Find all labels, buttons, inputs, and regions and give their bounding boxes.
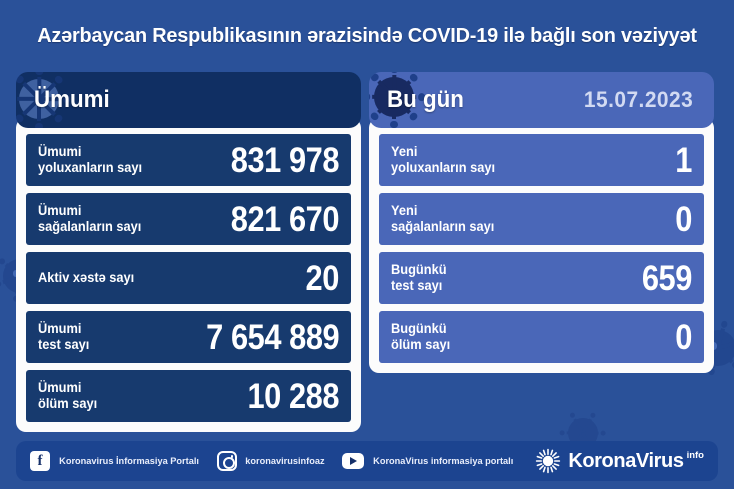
stat-label: Aktiv xəstə sayı xyxy=(38,270,134,286)
instagram-icon xyxy=(217,451,237,471)
stats-columns: Ümumi Ümumi yoluxanların sayı 831 978 Üm… xyxy=(0,72,734,432)
brand-logo[interactable]: KoronaVirus info xyxy=(535,448,704,474)
virus-sun-icon xyxy=(535,448,561,474)
stat-value: 831 978 xyxy=(231,143,339,178)
panel-total-title: Ümumi xyxy=(34,86,110,114)
social-label: koronavirusinfoaz xyxy=(245,456,324,467)
social-label: KoronaVirus informasiya portalı xyxy=(373,456,513,467)
page-title: Azərbaycan Respublikasının ərazisində CO… xyxy=(37,24,697,48)
facebook-icon: f xyxy=(30,451,50,471)
stat-value: 20 xyxy=(306,261,339,296)
stat-row: Ümumi yoluxanların sayı 831 978 xyxy=(26,134,351,186)
panel-today-card: Yeni yoluxanların sayı 1 Yeni sağalanlar… xyxy=(369,118,714,373)
panel-today: Bu gün 15.07.2023 Yeni yoluxanların sayı… xyxy=(369,72,714,432)
social-link-youtube[interactable]: KoronaVirus informasiya portalı xyxy=(342,453,515,469)
footer-bar: f Koronavirus İnformasiya Portalı korona… xyxy=(16,441,718,481)
stat-value: 0 xyxy=(675,320,692,355)
stat-value: 10 288 xyxy=(247,379,339,414)
stat-label: Ümumi sağalanların sayı xyxy=(38,203,141,235)
panel-total: Ümumi Ümumi yoluxanların sayı 831 978 Üm… xyxy=(16,72,361,432)
stat-row: Bugünkü ölüm sayı 0 xyxy=(379,311,704,363)
stat-value: 659 xyxy=(642,261,692,296)
infographic-root: Azərbaycan Respublikasının ərazisində CO… xyxy=(0,0,734,489)
stat-label: Ümumi test sayı xyxy=(38,321,89,353)
brand-superscript: info xyxy=(687,450,704,461)
panel-total-tab: Ümumi xyxy=(16,72,361,128)
stat-label: Ümumi ölüm sayı xyxy=(38,380,97,412)
stat-label: Ümumi yoluxanların sayı xyxy=(38,144,142,176)
social-label: Koronavirus İnformasiya Portalı xyxy=(59,456,199,467)
stat-label: Bugünkü test sayı xyxy=(391,262,447,294)
social-link-facebook[interactable]: f Koronavirus İnformasiya Portalı xyxy=(30,451,201,471)
stat-value: 1 xyxy=(675,143,692,178)
header-bar: Azərbaycan Respublikasının ərazisində CO… xyxy=(0,0,734,72)
stat-label: Yeni sağalanların sayı xyxy=(391,203,494,235)
stat-row: Yeni yoluxanların sayı 1 xyxy=(379,134,704,186)
stat-value: 821 670 xyxy=(231,202,339,237)
panel-today-title: Bu gün xyxy=(387,86,464,114)
stat-row: Aktiv xəstə sayı 20 xyxy=(26,252,351,304)
stat-value: 7 654 889 xyxy=(206,320,339,355)
stat-row: Ümumi sağalanların sayı 821 670 xyxy=(26,193,351,245)
stat-row: Bugünkü test sayı 659 xyxy=(379,252,704,304)
youtube-icon xyxy=(342,453,364,469)
stat-value: 0 xyxy=(675,202,692,237)
stat-row: Yeni sağalanların sayı 0 xyxy=(379,193,704,245)
social-link-instagram[interactable]: koronavirusinfoaz xyxy=(217,451,326,471)
panel-today-tab: Bu gün 15.07.2023 xyxy=(369,72,714,128)
stat-row: Ümumi ölüm sayı 10 288 xyxy=(26,370,351,422)
stat-label: Bugünkü ölüm sayı xyxy=(391,321,450,353)
stat-row: Ümumi test sayı 7 654 889 xyxy=(26,311,351,363)
report-date: 15.07.2023 xyxy=(584,87,693,113)
panel-total-card: Ümumi yoluxanların sayı 831 978 Ümumi sa… xyxy=(16,118,361,432)
brand-name: KoronaVirus xyxy=(568,450,683,473)
stat-label: Yeni yoluxanların sayı xyxy=(391,144,495,176)
